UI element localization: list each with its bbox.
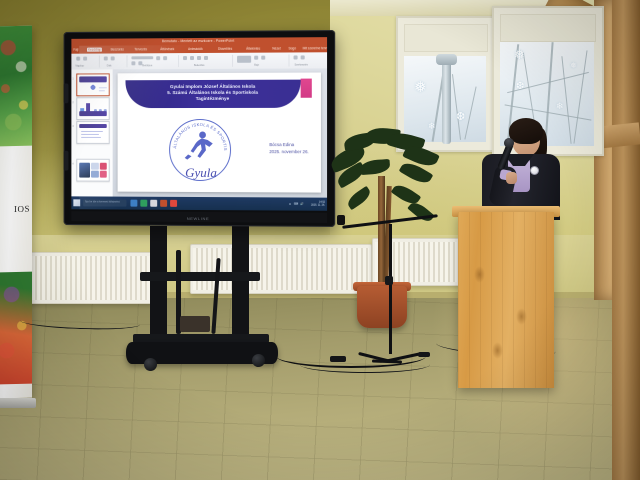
thumb-photo <box>79 163 90 178</box>
display-side-button[interactable] <box>64 151 69 171</box>
snowflake-decal: ❆ <box>456 112 465 123</box>
stand-shelf-upper <box>140 272 260 281</box>
presentation-room-photo: ❅ ❆ ❄ ❅ ❆ ❄ ❅ IOS <box>0 0 640 480</box>
snowflake-decal: ❅ <box>570 62 577 70</box>
display-side-button[interactable] <box>64 83 69 103</box>
floor-cable <box>300 356 430 373</box>
slide-thumbnail[interactable] <box>76 73 109 96</box>
ribbon-group-label: Vágólap <box>75 65 84 68</box>
taskbar-icon-powerpoint[interactable] <box>160 200 167 207</box>
presenter-hand <box>506 172 517 184</box>
ribbon-tell-me[interactable]: Mit szeretne tenni? <box>303 46 327 50</box>
snowflake-decal: ❅ <box>414 80 427 95</box>
downpipe-cap <box>436 54 457 65</box>
taskbar-icon-app[interactable] <box>140 200 147 207</box>
mic-stand-pole <box>389 224 392 354</box>
school-logo: 5. SZ. ÁLTALÁNOS ISKOLA ÉS SPORTISKOLA G… <box>169 119 231 181</box>
ribbon-tab-review[interactable]: Áttekintés <box>246 47 260 51</box>
ribbon-group-drawing[interactable]: Rajz <box>234 54 289 66</box>
presenter-description: Presenter speaking into handheld microph… <box>478 118 479 119</box>
floor-connector <box>418 352 430 357</box>
thumb-photo <box>91 163 99 170</box>
ribbon-group-label: Betűtípus <box>142 64 152 67</box>
presenter-name: Bócsa Edina <box>269 141 309 148</box>
snowflake-decal: ❅ <box>514 48 525 61</box>
ribbon-group-slides[interactable]: Diák <box>101 55 128 67</box>
stand-caster <box>144 358 157 371</box>
snowflake-decal: ❆ <box>516 82 524 92</box>
ribbon-tab-insert[interactable]: Beszúrás <box>111 48 124 52</box>
downpipe <box>442 58 451 144</box>
clock-date: 2025. 11. 26. <box>311 203 325 206</box>
banner-base <box>0 398 36 408</box>
podium-knot <box>474 266 485 283</box>
taskbar-icon-app[interactable] <box>170 200 177 207</box>
ribbon-group-paragraph[interactable]: Bekezdés <box>180 55 233 67</box>
banner-graphic-bottom <box>0 272 32 385</box>
ribbon-tab-slideshow[interactable]: Diavetítés <box>218 47 232 51</box>
mic-stand-adjuster[interactable] <box>385 276 393 285</box>
window-title: Bemutato - Mentett az eszkozre - PowerPo… <box>162 39 234 43</box>
slide-presenter-block: Bócsa Edina 2025. november 26. <box>269 141 309 155</box>
slide-title-banner: Gyulai Implom József Általános Iskola 5.… <box>125 80 300 108</box>
floor-power-brick <box>330 356 346 362</box>
presentation-date: 2025. november 26. <box>269 148 309 155</box>
thumb-photo <box>100 171 107 178</box>
podium-knot <box>492 342 503 359</box>
thumbnail-number: 4 <box>72 163 73 166</box>
ribbon-group-label: Rajz <box>254 64 259 67</box>
display-screen[interactable]: Bemutato - Mentett az eszkozre - PowerPo… <box>71 37 327 211</box>
banner-text: IOS <box>0 204 32 215</box>
slide-title-text: Gyulai Implom József Általános Iskola 5.… <box>125 83 300 103</box>
thumb-title-band <box>79 76 107 82</box>
thumb-photo <box>100 163 107 170</box>
ribbon-tab-animations[interactable]: Animációk <box>188 47 203 51</box>
mic-clip <box>337 215 345 225</box>
snowflake-decal: ❄ <box>556 102 564 111</box>
rollup-banner: IOS <box>0 26 32 399</box>
ribbon-tab-help[interactable]: Súgó <box>288 47 296 51</box>
thumb-photo <box>91 171 99 178</box>
ribbon-group-font[interactable]: Betűtípus <box>128 55 179 67</box>
interactive-display[interactable]: Bemutato - Mentett az eszkozre - PowerPo… <box>64 30 336 227</box>
thumbnail-number: 3 <box>72 125 73 128</box>
start-button-icon[interactable] <box>73 199 80 206</box>
ribbon-group-clipboard[interactable]: Vágólap <box>73 56 100 68</box>
slide-thumbnail[interactable] <box>76 121 109 144</box>
ribbon-group-label: Diák <box>107 64 112 67</box>
presenter-badge <box>530 166 539 175</box>
ribbon-tab-design[interactable]: Tervezés <box>134 47 147 51</box>
banner-graphic-top <box>0 26 32 147</box>
ribbon-tab-view[interactable]: Nézet <box>272 47 280 51</box>
taskbar-clock[interactable]: 14:52 2025. 11. 26. <box>311 200 325 207</box>
podium-wood-grain <box>458 212 554 388</box>
logo-script-text: Gyula <box>175 165 227 181</box>
ribbon-tab-file[interactable]: Fájl <box>73 48 78 52</box>
ribbon-group-label: Bekezdés <box>194 64 204 67</box>
slide-title-line-3: Tagintézménye <box>125 96 300 103</box>
display-brand-logo: NEWLINE <box>187 216 209 221</box>
snowflake-decal: ❄ <box>428 122 436 131</box>
slide-thumbnail-pane[interactable]: 1 2 3 <box>71 69 113 196</box>
ribbon-group-editing[interactable]: Szerkesztés <box>291 54 326 66</box>
presenter: Presenter speaking into handheld microph… <box>478 118 564 218</box>
radiator <box>24 252 154 304</box>
slide-editing-area[interactable]: Gyulai Implom József Általános Iskola 5.… <box>113 68 327 197</box>
thumb-title-band <box>79 124 107 128</box>
runner-figure-icon <box>183 129 217 163</box>
podium <box>458 212 554 388</box>
current-slide[interactable]: Gyulai Implom József Általános Iskola 5.… <box>118 72 321 192</box>
ribbon-tab-transitions[interactable]: Áttűnések <box>160 47 174 51</box>
ribbon-tab-home[interactable]: Kezdőlap <box>87 47 102 51</box>
stand-caster <box>252 354 265 367</box>
taskbar-icon-app[interactable] <box>150 200 157 207</box>
window-transom <box>500 14 596 42</box>
slide-thumbnail[interactable] <box>76 159 109 182</box>
search-placeholder: Írja be ide a keresett kifejezést <box>85 200 119 203</box>
media-box <box>180 316 210 332</box>
slide-accent-block <box>301 79 312 98</box>
thumbnail-number: 2 <box>72 101 73 104</box>
thumb-logo <box>89 83 97 92</box>
slide-thumbnail[interactable] <box>76 97 109 120</box>
roof-beam-corner <box>612 0 640 480</box>
system-tray-icons[interactable]: ▲ ⌨ 🔊 <box>289 201 305 205</box>
podium-knot <box>516 308 527 325</box>
thumbnail-number: 1 <box>72 77 73 80</box>
window-transom <box>404 24 488 52</box>
windows-taskbar[interactable]: Írja be ide a keresett kifejezést ▲ ⌨ 🔊 … <box>71 196 327 210</box>
plant-pot <box>357 286 407 328</box>
presenter-hair <box>509 118 543 144</box>
thumb-caption-band <box>79 111 107 116</box>
taskbar-icon-explorer[interactable] <box>130 200 137 207</box>
ribbon-group-label: Szerkesztés <box>295 63 308 66</box>
